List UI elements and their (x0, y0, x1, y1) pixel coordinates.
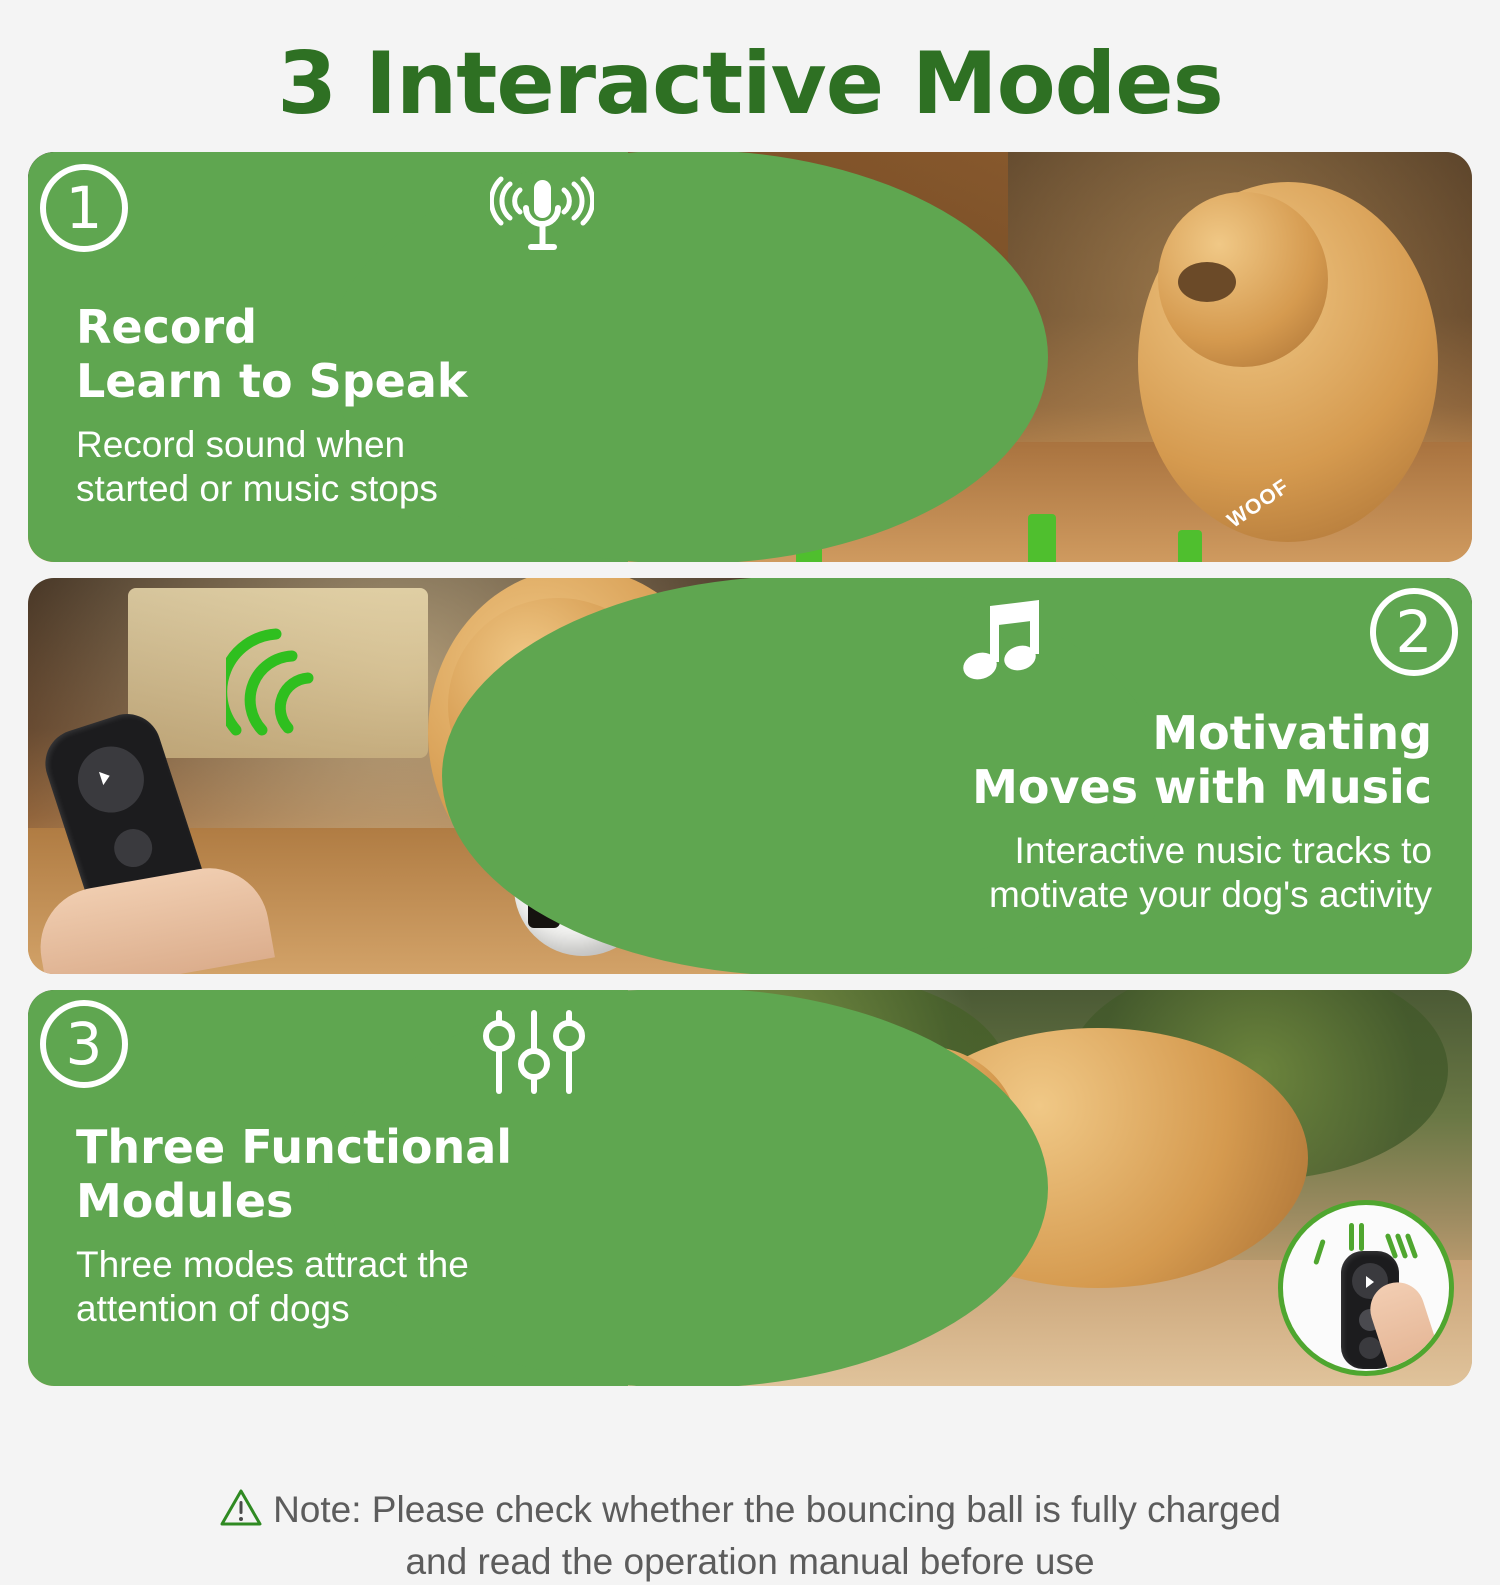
panel-3-subtext: Three modes attract the attention of dog… (76, 1243, 636, 1332)
panel-3-number-badge: 3 (40, 1000, 128, 1088)
panel-2-heading: Motivating Moves with Music (792, 706, 1432, 815)
warning-triangle-icon (219, 1442, 263, 1539)
mode-panel-1: WOOF WOOF 1 Record Learn to Speak Record… (28, 152, 1472, 562)
panel-2-text: Motivating Moves with Music Interactive … (792, 706, 1432, 917)
inset-power-button (1359, 1337, 1381, 1359)
mode-mark-1 (1313, 1239, 1326, 1265)
mode-button (109, 824, 157, 872)
equalizer-sliders-icon (480, 1004, 590, 1109)
panel-1-number-badge: 1 (40, 164, 128, 252)
panel-3-text: Three Functional Modules Three modes att… (76, 1120, 636, 1331)
panel-1-text: Record Learn to Speak Record sound when … (76, 300, 596, 511)
panel-1-subtext: Record sound when started or music stops (76, 423, 596, 512)
ball-3-strap (1178, 530, 1202, 562)
remote-inset-callout (1278, 1200, 1454, 1376)
mode-panel-3: 3 Three Functional Modules Three modes a… (28, 990, 1472, 1386)
microphone-icon (490, 174, 594, 271)
footer-note-text: Note: Please check whether the bouncing … (273, 1489, 1281, 1582)
panel-3-heading: Three Functional Modules (76, 1120, 636, 1229)
page-title: 3 Interactive Modes (0, 34, 1500, 134)
ball-2-strap (1028, 514, 1056, 562)
panel-2-subtext: Interactive nusic tracks to motivate you… (792, 829, 1432, 918)
infographic-page: 3 Interactive Modes (0, 0, 1500, 1500)
music-note-icon (958, 600, 1054, 695)
footer-note: Note: Please check whether the bouncing … (0, 1396, 1500, 1585)
mode-panel-2: 2 Motivating Moves with Music Interactiv… (28, 578, 1472, 974)
mode-mark-2b (1359, 1223, 1364, 1251)
panel-1-heading: Record Learn to Speak (76, 300, 596, 409)
mode-mark-2a (1349, 1223, 1354, 1251)
panel-2-number-badge: 2 (1370, 588, 1458, 676)
